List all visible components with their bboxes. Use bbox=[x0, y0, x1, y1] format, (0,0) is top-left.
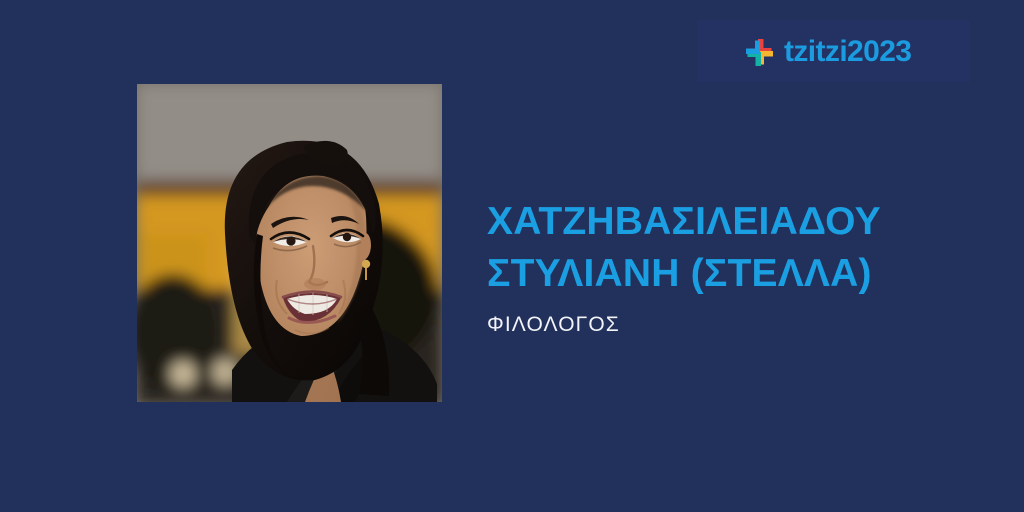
candidate-name-line-2: ΣΤΥΛΙΑΝΗ (ΣΤΕΛΛΑ) bbox=[487, 248, 957, 300]
candidate-name-line-1: ΧΑΤΖΗΒΑΣΙΛΕΙΑΔΟΥ bbox=[487, 196, 957, 248]
candidate-profile-slide: tzitzi2023 bbox=[0, 0, 1024, 512]
candidate-text-block: ΧΑΤΖΗΒΑΣΙΛΕΙΑΔΟΥ ΣΤΥΛΙΑΝΗ (ΣΤΕΛΛΑ) ΦΙΛΟΛ… bbox=[487, 196, 957, 335]
brand-logo[interactable]: tzitzi2023 bbox=[744, 34, 911, 70]
candidate-photo bbox=[137, 84, 442, 402]
pinwheel-logo-icon bbox=[744, 37, 775, 68]
candidate-role: ΦΙΛΟΛΟΓΟΣ bbox=[487, 314, 957, 335]
brand-wordmark: tzitzi2023 bbox=[784, 37, 911, 67]
